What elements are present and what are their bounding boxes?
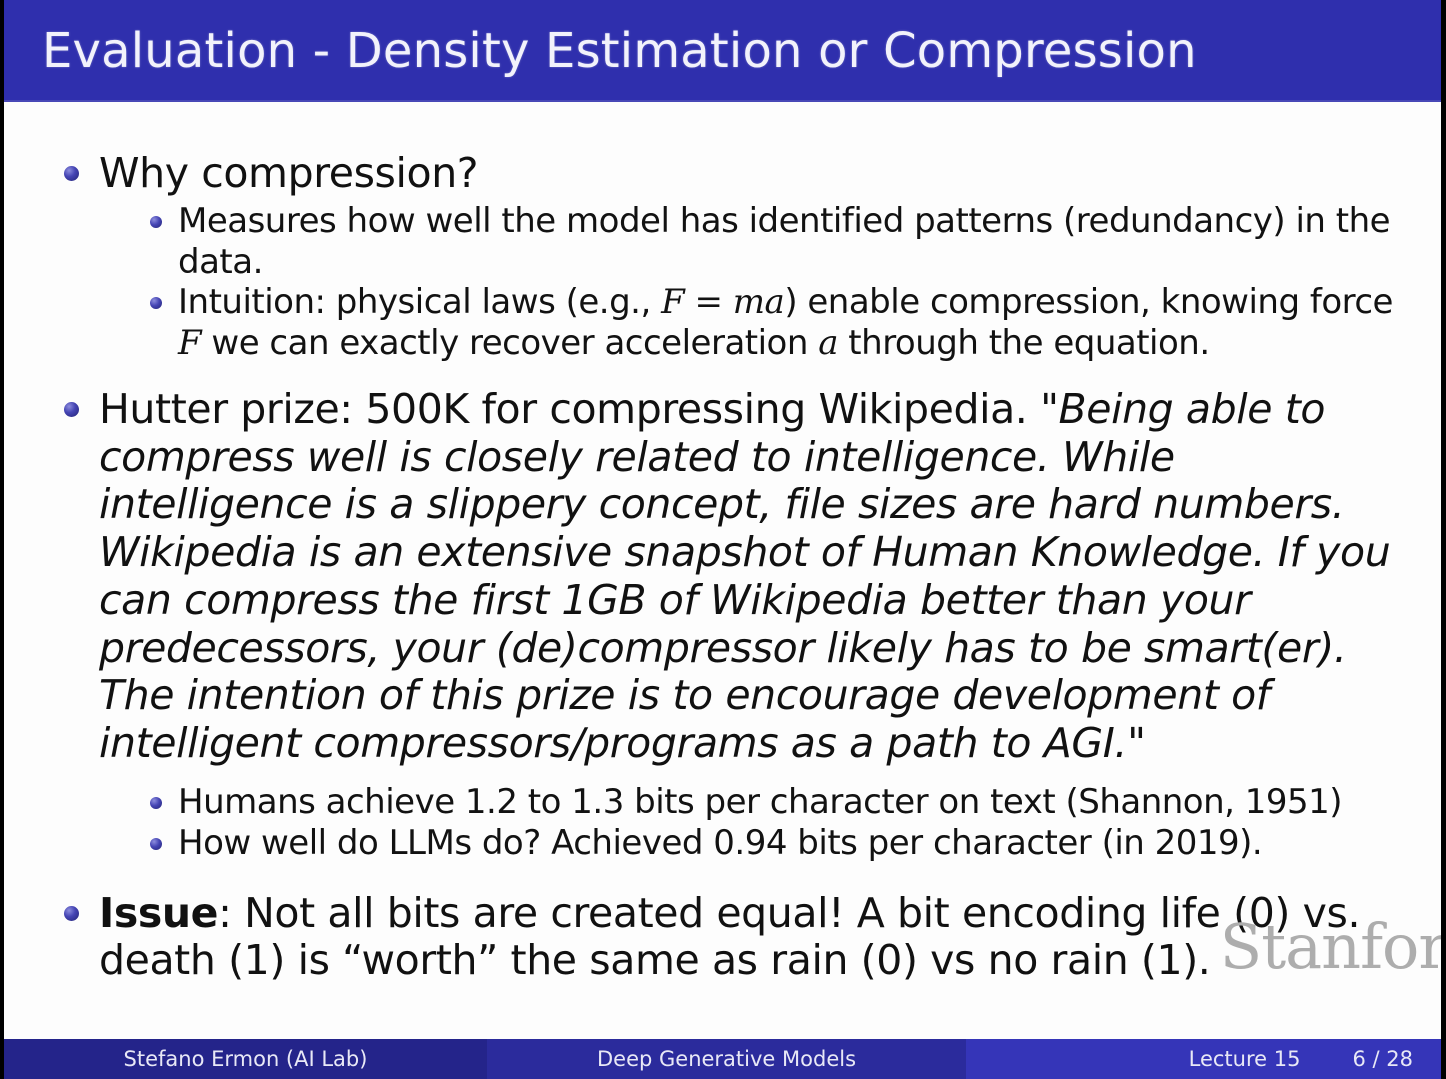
intuition-prefix: Intuition: physical laws (e.g., — [178, 282, 661, 322]
hutter-quote-text: "Being able to compress well is closely … — [99, 385, 1390, 767]
sub-bullet-intuition: Intuition: physical laws (e.g., F = ma) … — [150, 282, 1401, 364]
bullet-dot-icon — [150, 797, 162, 809]
bullet-hutter-prize-label: Hutter prize: 500K for compressing Wikip… — [99, 386, 1401, 768]
bullet-issue-label: Issue: Not all bits are created equal! A… — [99, 890, 1401, 986]
intuition-suffix: through the equation. — [838, 323, 1210, 363]
sub-bullet-intuition-label: Intuition: physical laws (e.g., F = ma) … — [178, 282, 1401, 364]
issue-keyword: Issue — [99, 889, 218, 937]
bullet-why-compression: Why compression? — [64, 150, 1401, 198]
bullet-dot-icon — [150, 297, 162, 309]
footer-author: Stefano Ermon (AI Lab) — [4, 1039, 487, 1079]
footer-page-number: 6 / 28 — [1352, 1047, 1413, 1071]
slide-content: Why compression? Measures how well the m… — [4, 102, 1441, 1035]
sub-bullet-humans-bpc: Humans achieve 1.2 to 1.3 bits per chara… — [150, 782, 1401, 823]
bullet-issue: Issue: Not all bits are created equal! A… — [64, 890, 1401, 986]
slide-title-bar: Evaluation - Density Estimation or Compr… — [4, 0, 1441, 102]
bullet-hutter-prize: Hutter prize: 500K for compressing Wikip… — [64, 386, 1401, 768]
bullet-dot-icon — [150, 838, 162, 850]
symbol-acceleration-a: a — [818, 323, 838, 363]
footer-lecture-number: Lecture 15 — [1189, 1047, 1301, 1071]
bullet-dot-icon — [64, 906, 79, 921]
sub-bullet-humans-bpc-label: Humans achieve 1.2 to 1.3 bits per chara… — [178, 782, 1342, 823]
intuition-middle-2: we can exactly recover acceleration — [201, 323, 818, 363]
sub-bullet-llm-bpc-label: How well do LLMs do? Achieved 0.94 bits … — [178, 823, 1262, 864]
bullet-group-hutter-prize: Hutter prize: 500K for compressing Wikip… — [64, 386, 1401, 864]
formula-f-equals-ma: F = ma — [661, 282, 784, 322]
sub-bullet-llm-bpc: How well do LLMs do? Achieved 0.94 bits … — [150, 823, 1401, 864]
sub-bullet-measures: Measures how well the model has identifi… — [150, 201, 1401, 283]
bullet-group-why-compression: Why compression? Measures how well the m… — [64, 150, 1401, 364]
bullet-dot-icon — [150, 216, 162, 228]
bullet-why-compression-label: Why compression? — [99, 150, 478, 198]
issue-body-text: : Not all bits are created equal! A bit … — [99, 889, 1360, 985]
hutter-lead-text: Hutter prize: 500K for compressing Wikip… — [99, 385, 1040, 433]
symbol-force-f: F — [178, 323, 201, 363]
sub-bullet-list-hutter: Humans achieve 1.2 to 1.3 bits per chara… — [150, 782, 1401, 864]
page-title: Evaluation - Density Estimation or Compr… — [42, 23, 1197, 79]
bullet-dot-icon — [64, 402, 79, 417]
intuition-middle: ) enable compression, knowing force — [784, 282, 1393, 322]
slide-footer: Stefano Ermon (AI Lab) Deep Generative M… — [4, 1039, 1441, 1079]
bullet-dot-icon — [64, 166, 79, 181]
slide: Evaluation - Density Estimation or Compr… — [0, 0, 1446, 1079]
bullet-group-issue: Issue: Not all bits are created equal! A… — [64, 890, 1401, 986]
sub-bullet-measures-label: Measures how well the model has identifi… — [178, 201, 1401, 283]
sub-bullet-list-why: Measures how well the model has identifi… — [150, 201, 1401, 364]
footer-course-title: Deep Generative Models — [487, 1039, 966, 1079]
footer-right-section: Lecture 15 6 / 28 — [966, 1039, 1441, 1079]
